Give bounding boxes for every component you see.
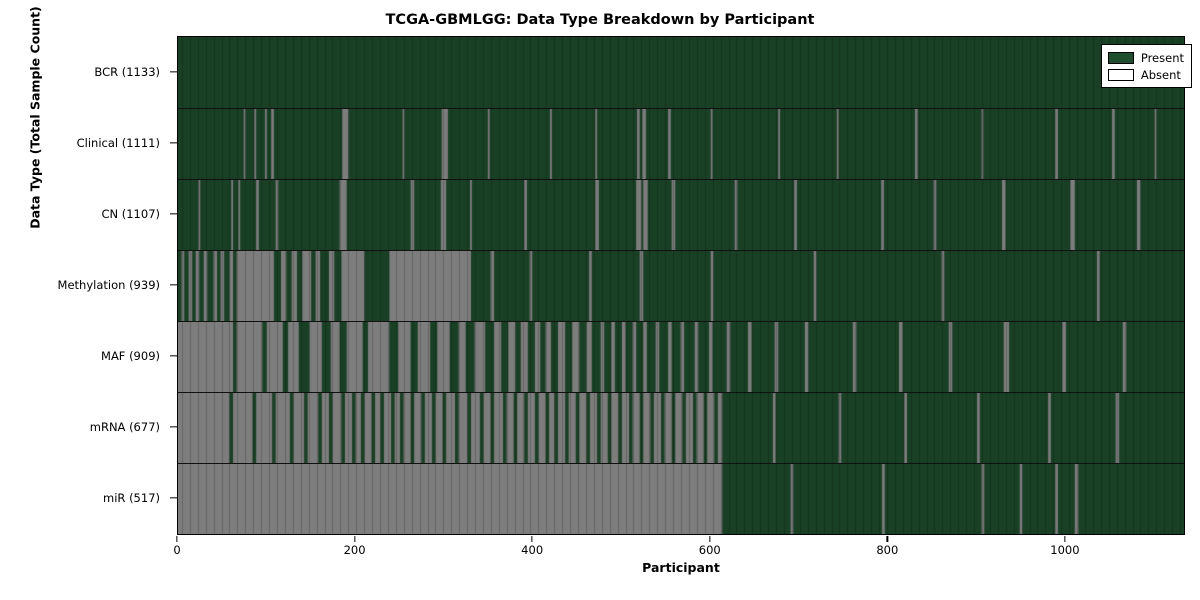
y-tick-label-methylation: Methylation (939) [58, 278, 160, 292]
y-tick-label-mir: miR (517) [103, 491, 160, 505]
heatmap-row-separator [178, 392, 1184, 393]
legend-swatch-present [1108, 52, 1134, 64]
heatmap-row-cells [178, 463, 1184, 534]
heatmap-row-clinical [178, 108, 1184, 179]
y-tick-label-clinical: Clinical (1111) [77, 136, 160, 150]
heatmap-row-cells [178, 108, 1184, 179]
x-tick-mark [532, 536, 533, 542]
heatmap-row-cells [178, 250, 1184, 321]
x-tick-mark [176, 536, 177, 542]
heatmap-row-mir [178, 463, 1184, 534]
y-tick-mark [170, 71, 177, 72]
y-tick-mark [170, 284, 177, 285]
y-tick-mark [170, 355, 177, 356]
y-tick-label-bcr: BCR (1133) [94, 65, 160, 79]
x-tick-mark [709, 536, 710, 542]
legend-item-present: Present [1108, 49, 1184, 66]
heatmap-row-separator [178, 179, 1184, 180]
y-axis-labels: BCR (1133)Clinical (1111)CN (1107)Methyl… [0, 36, 170, 535]
heatmap-row-mrna [178, 392, 1184, 463]
heatmap-row-separator [178, 321, 1184, 322]
heatmap-row-methylation [178, 250, 1184, 321]
heatmap-row-bcr [178, 37, 1184, 108]
y-tick-mark [170, 426, 177, 427]
y-tick-mark [170, 213, 177, 214]
legend-item-absent: Absent [1108, 66, 1184, 83]
x-tick-label-1000: 1000 [1050, 543, 1079, 557]
x-tick-label-200: 200 [344, 543, 366, 557]
y-tick-label-mrna: mRNA (677) [90, 420, 160, 434]
legend-label: Present [1141, 51, 1184, 65]
x-tick-label-800: 800 [876, 543, 898, 557]
x-tick-mark [1064, 536, 1065, 542]
heatmap-row-cells [178, 37, 1184, 108]
chart-legend: PresentAbsent [1101, 44, 1192, 88]
heatmap-row-cells [178, 392, 1184, 463]
y-tick-mark [170, 142, 177, 143]
heatmap-plot-area [177, 36, 1185, 535]
heatmap-row-maf [178, 321, 1184, 392]
heatmap-row-cn [178, 179, 1184, 250]
y-tick-mark [170, 497, 177, 498]
x-tick-label-600: 600 [699, 543, 721, 557]
heatmap-row-separator [178, 463, 1184, 464]
x-tick-label-0: 0 [173, 543, 180, 557]
y-tick-label-cn: CN (1107) [101, 207, 160, 221]
x-tick-mark [887, 536, 888, 542]
chart-figure: TCGA-GBMLGG: Data Type Breakdown by Part… [0, 0, 1200, 600]
heatmap-row-separator [178, 108, 1184, 109]
heatmap-row-cells [178, 179, 1184, 250]
heatmap-row-cells [178, 321, 1184, 392]
legend-label: Absent [1141, 68, 1181, 82]
chart-title: TCGA-GBMLGG: Data Type Breakdown by Part… [0, 12, 1200, 28]
y-tick-label-maf: MAF (909) [101, 349, 160, 363]
x-tick-mark [354, 536, 355, 542]
legend-swatch-absent [1108, 69, 1134, 81]
heatmap-row-separator [178, 250, 1184, 251]
x-axis-labels: 02004006008001000 [177, 536, 1185, 558]
x-tick-label-400: 400 [521, 543, 543, 557]
x-axis-title: Participant [177, 560, 1185, 575]
